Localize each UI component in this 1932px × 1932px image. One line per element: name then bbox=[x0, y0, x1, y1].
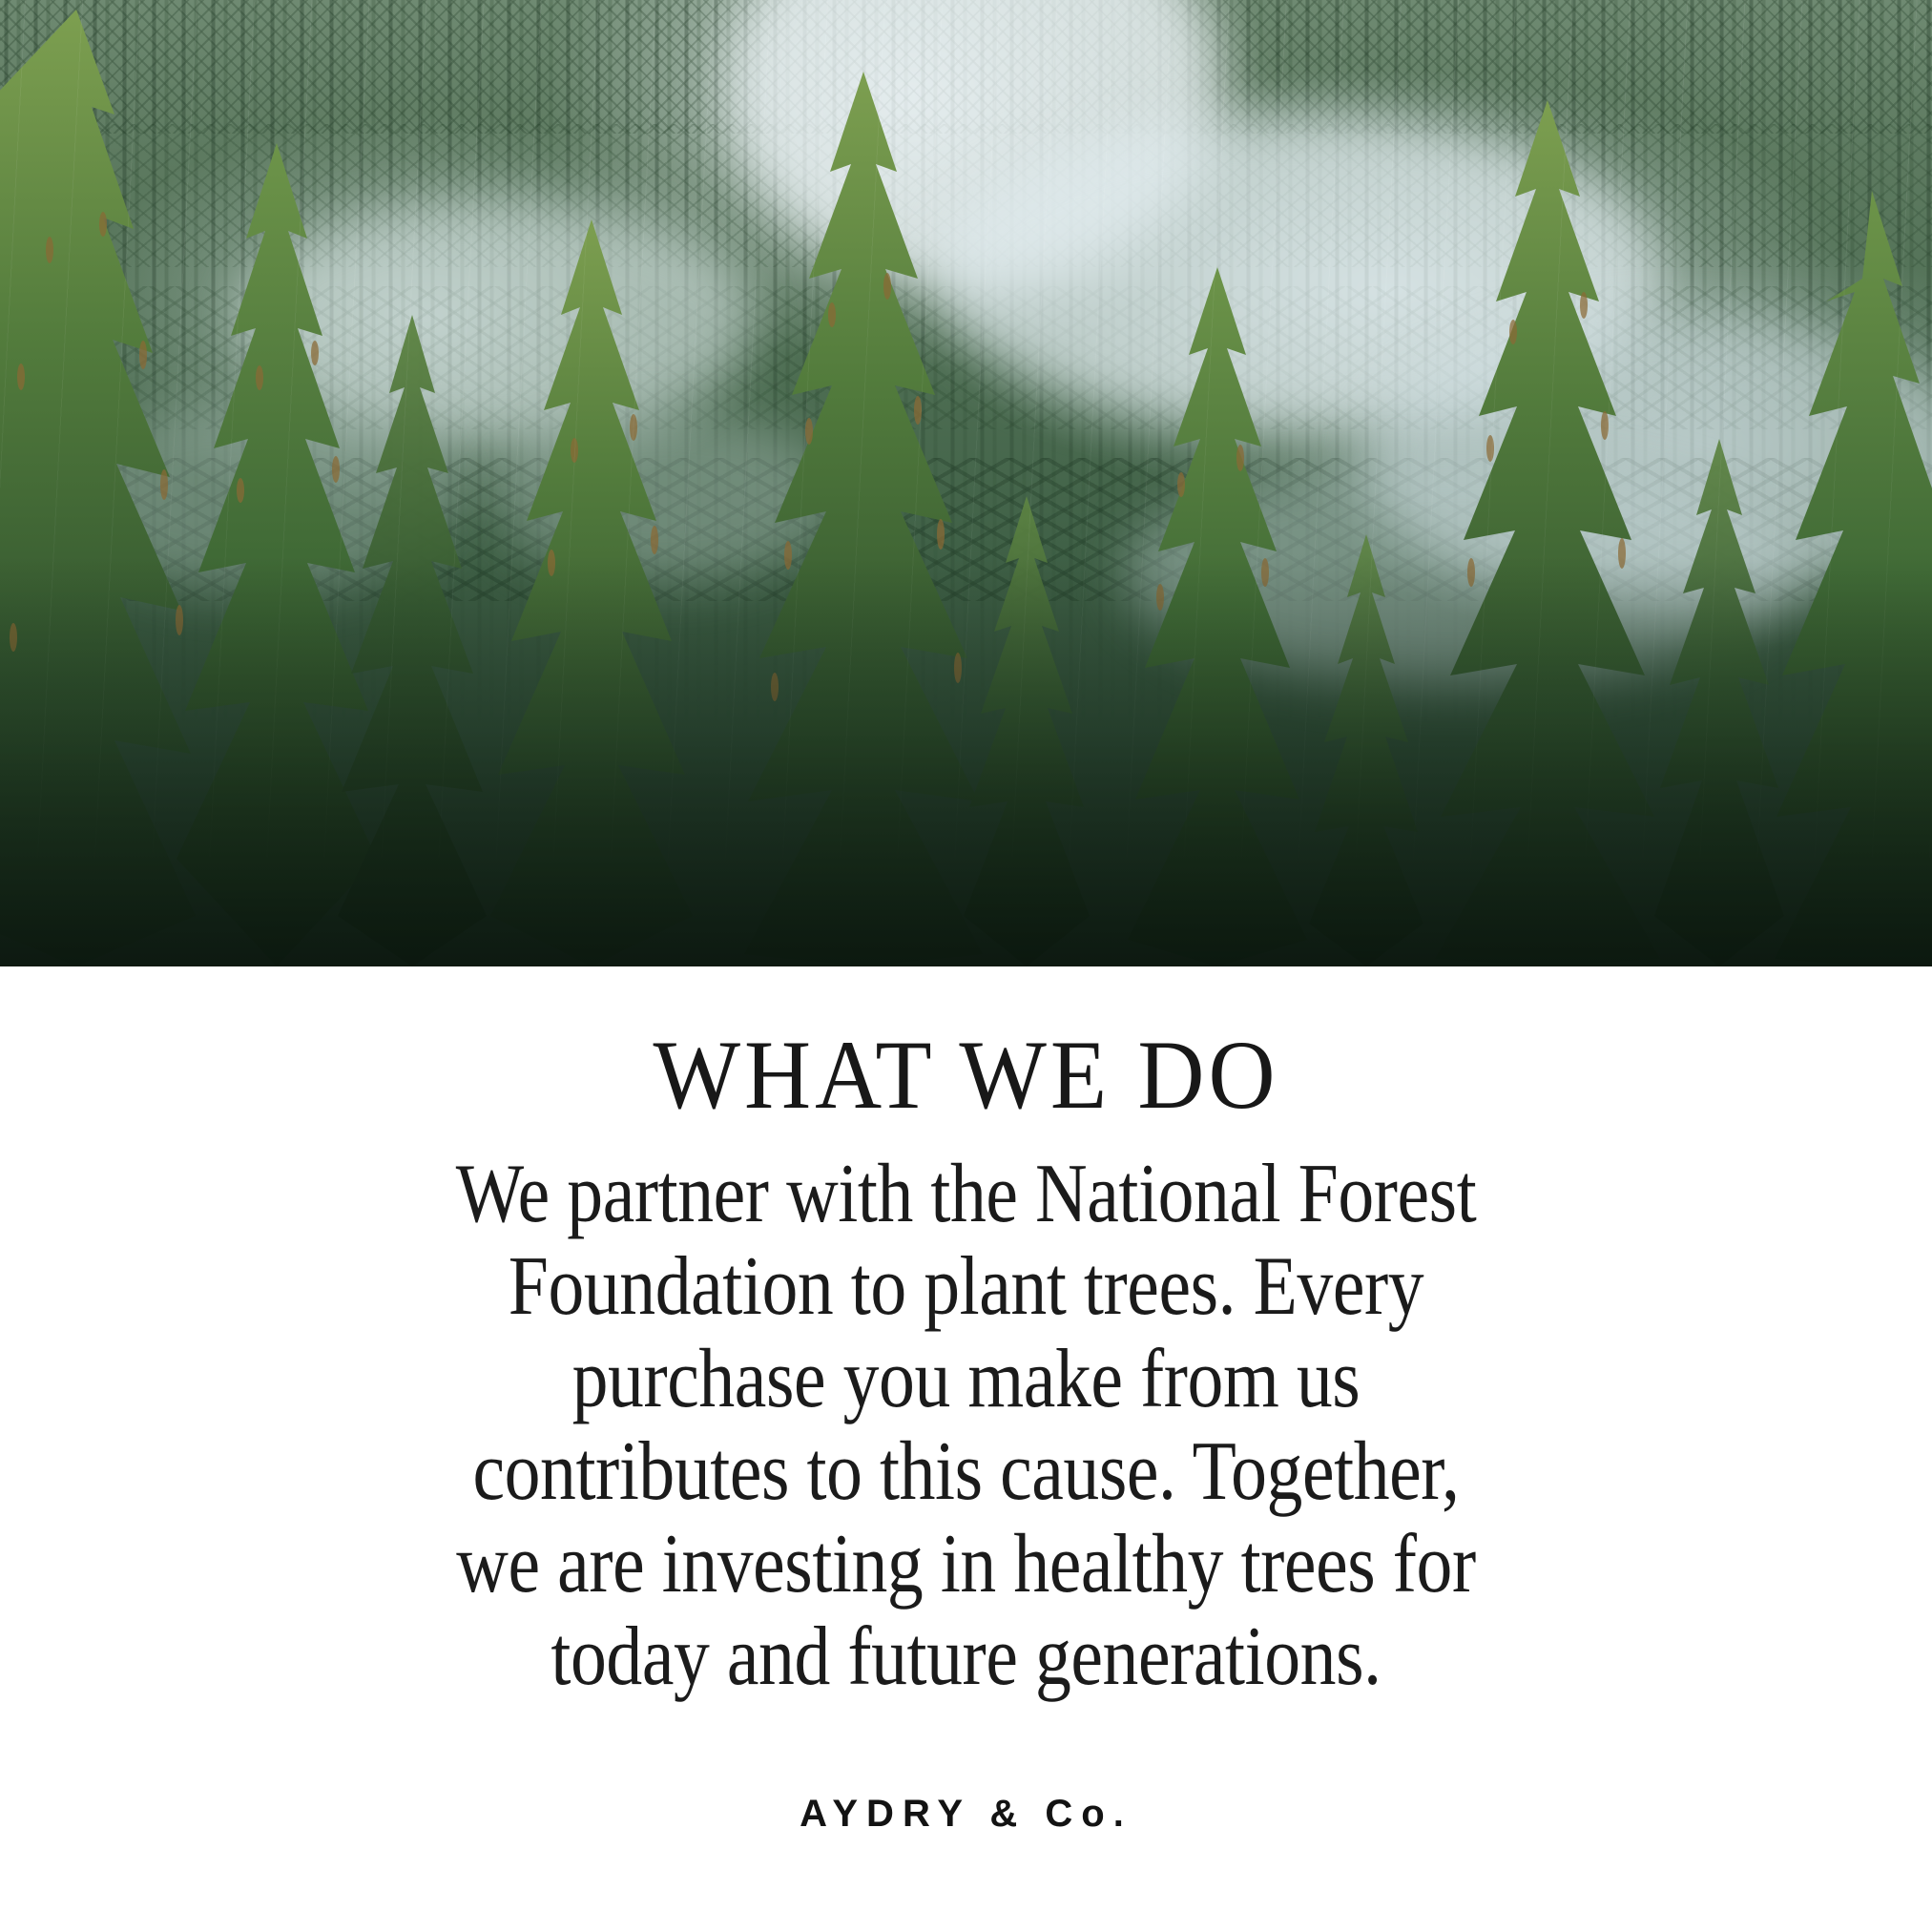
paragraph-line: We partner with the National Forest bbox=[135, 1148, 1797, 1240]
paragraph-line: purchase you make from us bbox=[135, 1333, 1797, 1425]
paragraph-line: today and future generations. bbox=[135, 1610, 1797, 1703]
promo-card: WHAT WE DO We partner with the National … bbox=[0, 0, 1932, 1932]
paragraph-line: we are investing in healthy trees for bbox=[135, 1518, 1797, 1610]
hero-forest-photo bbox=[0, 0, 1932, 966]
brand-logo: AYDRY & Co. bbox=[0, 1793, 1932, 1836]
page-title: WHAT WE DO bbox=[0, 1026, 1932, 1124]
paragraph-line: Foundation to plant trees. Every bbox=[135, 1240, 1797, 1333]
body-paragraph: We partner with the National Forest Foun… bbox=[135, 1148, 1797, 1703]
paragraph-line: contributes to this cause. Together, bbox=[135, 1425, 1797, 1518]
rain-streaks-overlay bbox=[0, 0, 1932, 966]
message-panel: WHAT WE DO We partner with the National … bbox=[0, 966, 1932, 1932]
